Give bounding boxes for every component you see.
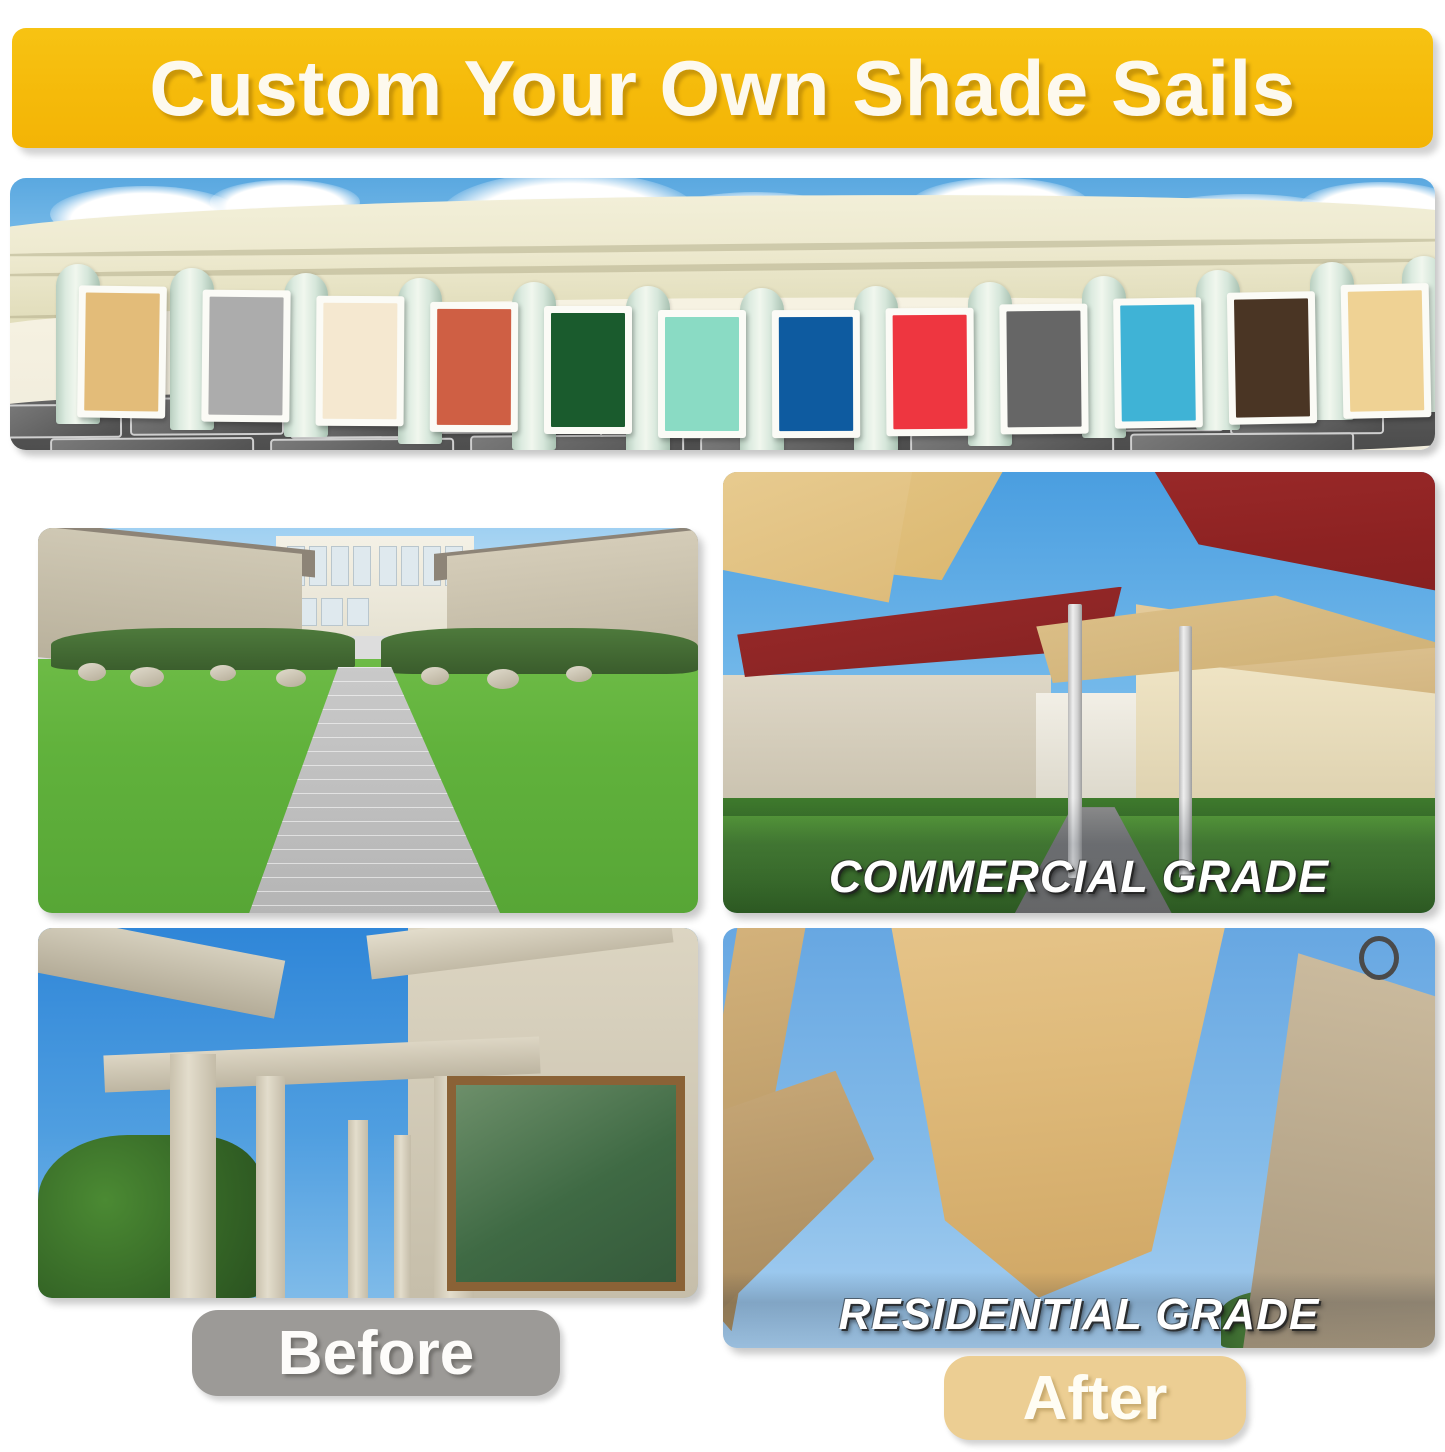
trees — [38, 1135, 262, 1298]
swatch-fill — [1120, 304, 1196, 421]
swatch-fill — [437, 309, 511, 425]
swatch-fill — [1234, 298, 1310, 417]
pergola-column — [348, 1120, 368, 1298]
commercial-grade-photo: COMMERCIAL GRADE — [723, 472, 1435, 913]
color-swatch-red[interactable] — [886, 308, 975, 437]
color-swatch-mint[interactable] — [658, 310, 746, 438]
pergola-column — [394, 1135, 411, 1298]
color-swatch-dark-green[interactable] — [544, 306, 632, 434]
page-title: Custom Your Own Shade Sails — [149, 43, 1295, 134]
commercial-grade-caption: COMMERCIAL GRADE — [723, 851, 1435, 903]
color-swatch-banner — [10, 178, 1435, 450]
pergola-before-photo — [38, 928, 698, 1298]
color-swatch-royal-blue[interactable] — [772, 310, 860, 438]
swatch-fill — [551, 313, 625, 427]
after-label-pill: After — [944, 1356, 1246, 1440]
residential-grade-photo: RESIDENTIAL GRADE — [723, 928, 1435, 1348]
courtyard-before-photo — [38, 528, 698, 913]
header-banner: Custom Your Own Shade Sails — [12, 28, 1433, 148]
glass-door — [447, 1076, 685, 1291]
swatch-fill — [323, 303, 398, 420]
color-swatch-dark-grey[interactable] — [999, 304, 1088, 435]
swatch-fill — [208, 297, 283, 416]
swatch-fill — [779, 317, 853, 431]
residential-grade-caption: RESIDENTIAL GRADE — [723, 1290, 1435, 1340]
swatch-fill — [84, 292, 160, 411]
color-swatch-dark-brown[interactable] — [1227, 291, 1317, 425]
color-swatch-tan[interactable] — [1341, 283, 1432, 419]
swatch-fill — [665, 317, 739, 431]
swatch-fill — [1006, 311, 1081, 428]
color-swatch-cream[interactable] — [316, 296, 405, 427]
swatch-fill — [1348, 290, 1424, 412]
color-swatch-light-grey[interactable] — [201, 290, 290, 423]
before-label-pill: Before — [192, 1310, 560, 1396]
color-swatch-terracotta[interactable] — [430, 302, 518, 432]
swatch-fill — [893, 315, 968, 430]
pergola-column — [256, 1076, 286, 1298]
color-swatch-sand[interactable] — [77, 285, 167, 418]
pergola-column — [170, 1054, 216, 1298]
color-swatch-turquoise[interactable] — [1113, 297, 1203, 428]
